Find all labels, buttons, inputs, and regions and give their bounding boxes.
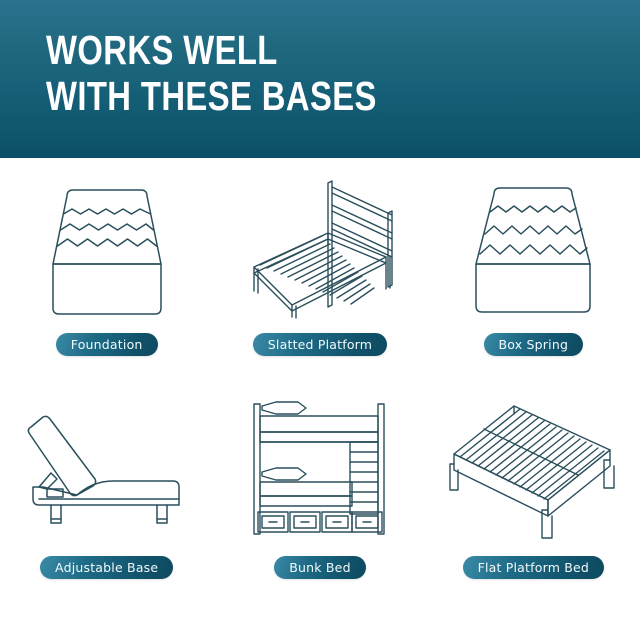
bases-row-top: Foundation (0, 158, 640, 399)
header-banner: WORKS WELLWITH THESE BASES (0, 0, 640, 158)
base-label-foundation[interactable]: Foundation (56, 333, 158, 356)
box-spring-icon (438, 172, 628, 324)
page-title-line-1: WORKS WELL (46, 27, 278, 73)
base-card-adjustable-base[interactable]: Adjustable Base (0, 374, 213, 615)
base-card-foundation[interactable]: Foundation (0, 158, 213, 399)
base-card-bunk-bed[interactable]: Bunk Bed (213, 374, 426, 615)
flat-platform-bed-icon (438, 394, 628, 546)
base-label-adjustable-base[interactable]: Adjustable Base (40, 556, 173, 579)
base-card-flat-platform-bed[interactable]: Flat Platform Bed (427, 374, 640, 615)
slatted-platform-icon (225, 172, 415, 324)
works-well-with-these-bases-graphic: WORKS WELLWITH THESE BASES (0, 0, 640, 640)
page-title: WORKS WELLWITH THESE BASES (46, 27, 377, 119)
base-card-slatted-platform[interactable]: Slatted Platform (213, 158, 426, 399)
base-label-box-spring[interactable]: Box Spring (484, 333, 584, 356)
bases-grid: Foundation (0, 158, 640, 640)
bases-row-bottom: Adjustable Base (0, 374, 640, 615)
base-label-slatted-platform[interactable]: Slatted Platform (253, 333, 387, 356)
foundation-icon (12, 172, 202, 324)
page-title-line-2: WITH THESE BASES (46, 73, 377, 119)
adjustable-base-icon (12, 394, 202, 546)
bunk-bed-icon (225, 394, 415, 546)
base-label-bunk-bed[interactable]: Bunk Bed (274, 556, 365, 579)
base-label-flat-platform-bed[interactable]: Flat Platform Bed (463, 556, 605, 579)
base-card-box-spring[interactable]: Box Spring (427, 158, 640, 399)
